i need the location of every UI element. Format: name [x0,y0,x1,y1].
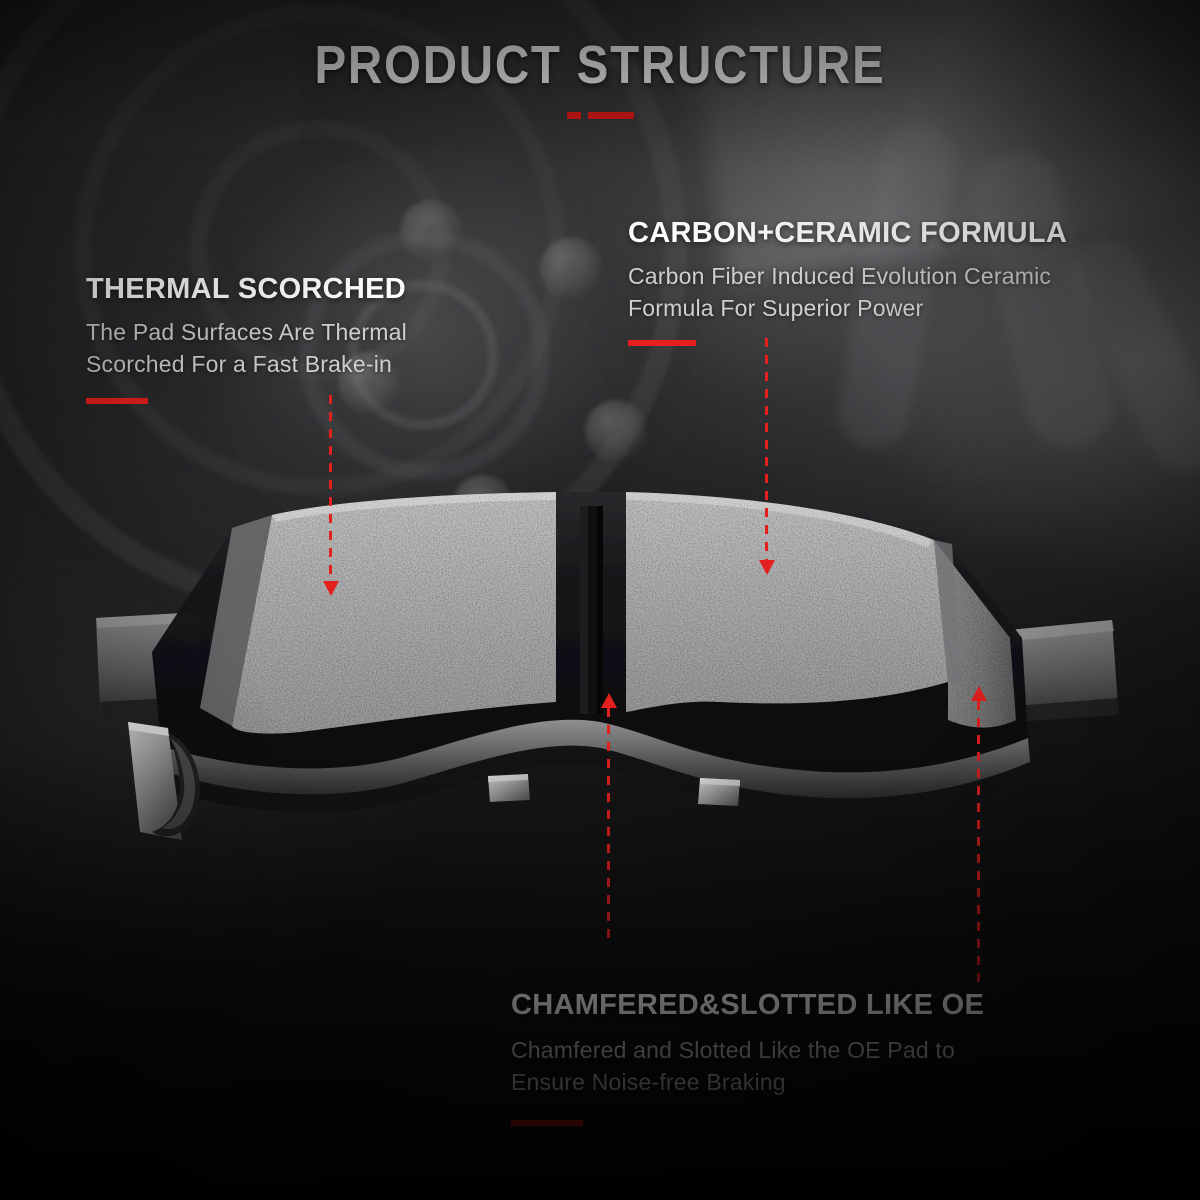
vignette-overlay [0,0,1200,1200]
film-grain-overlay [0,0,300,150]
infographic-canvas: PRODUCT STRUCTURE THERMAL SCORCHED The P… [0,0,1200,1200]
